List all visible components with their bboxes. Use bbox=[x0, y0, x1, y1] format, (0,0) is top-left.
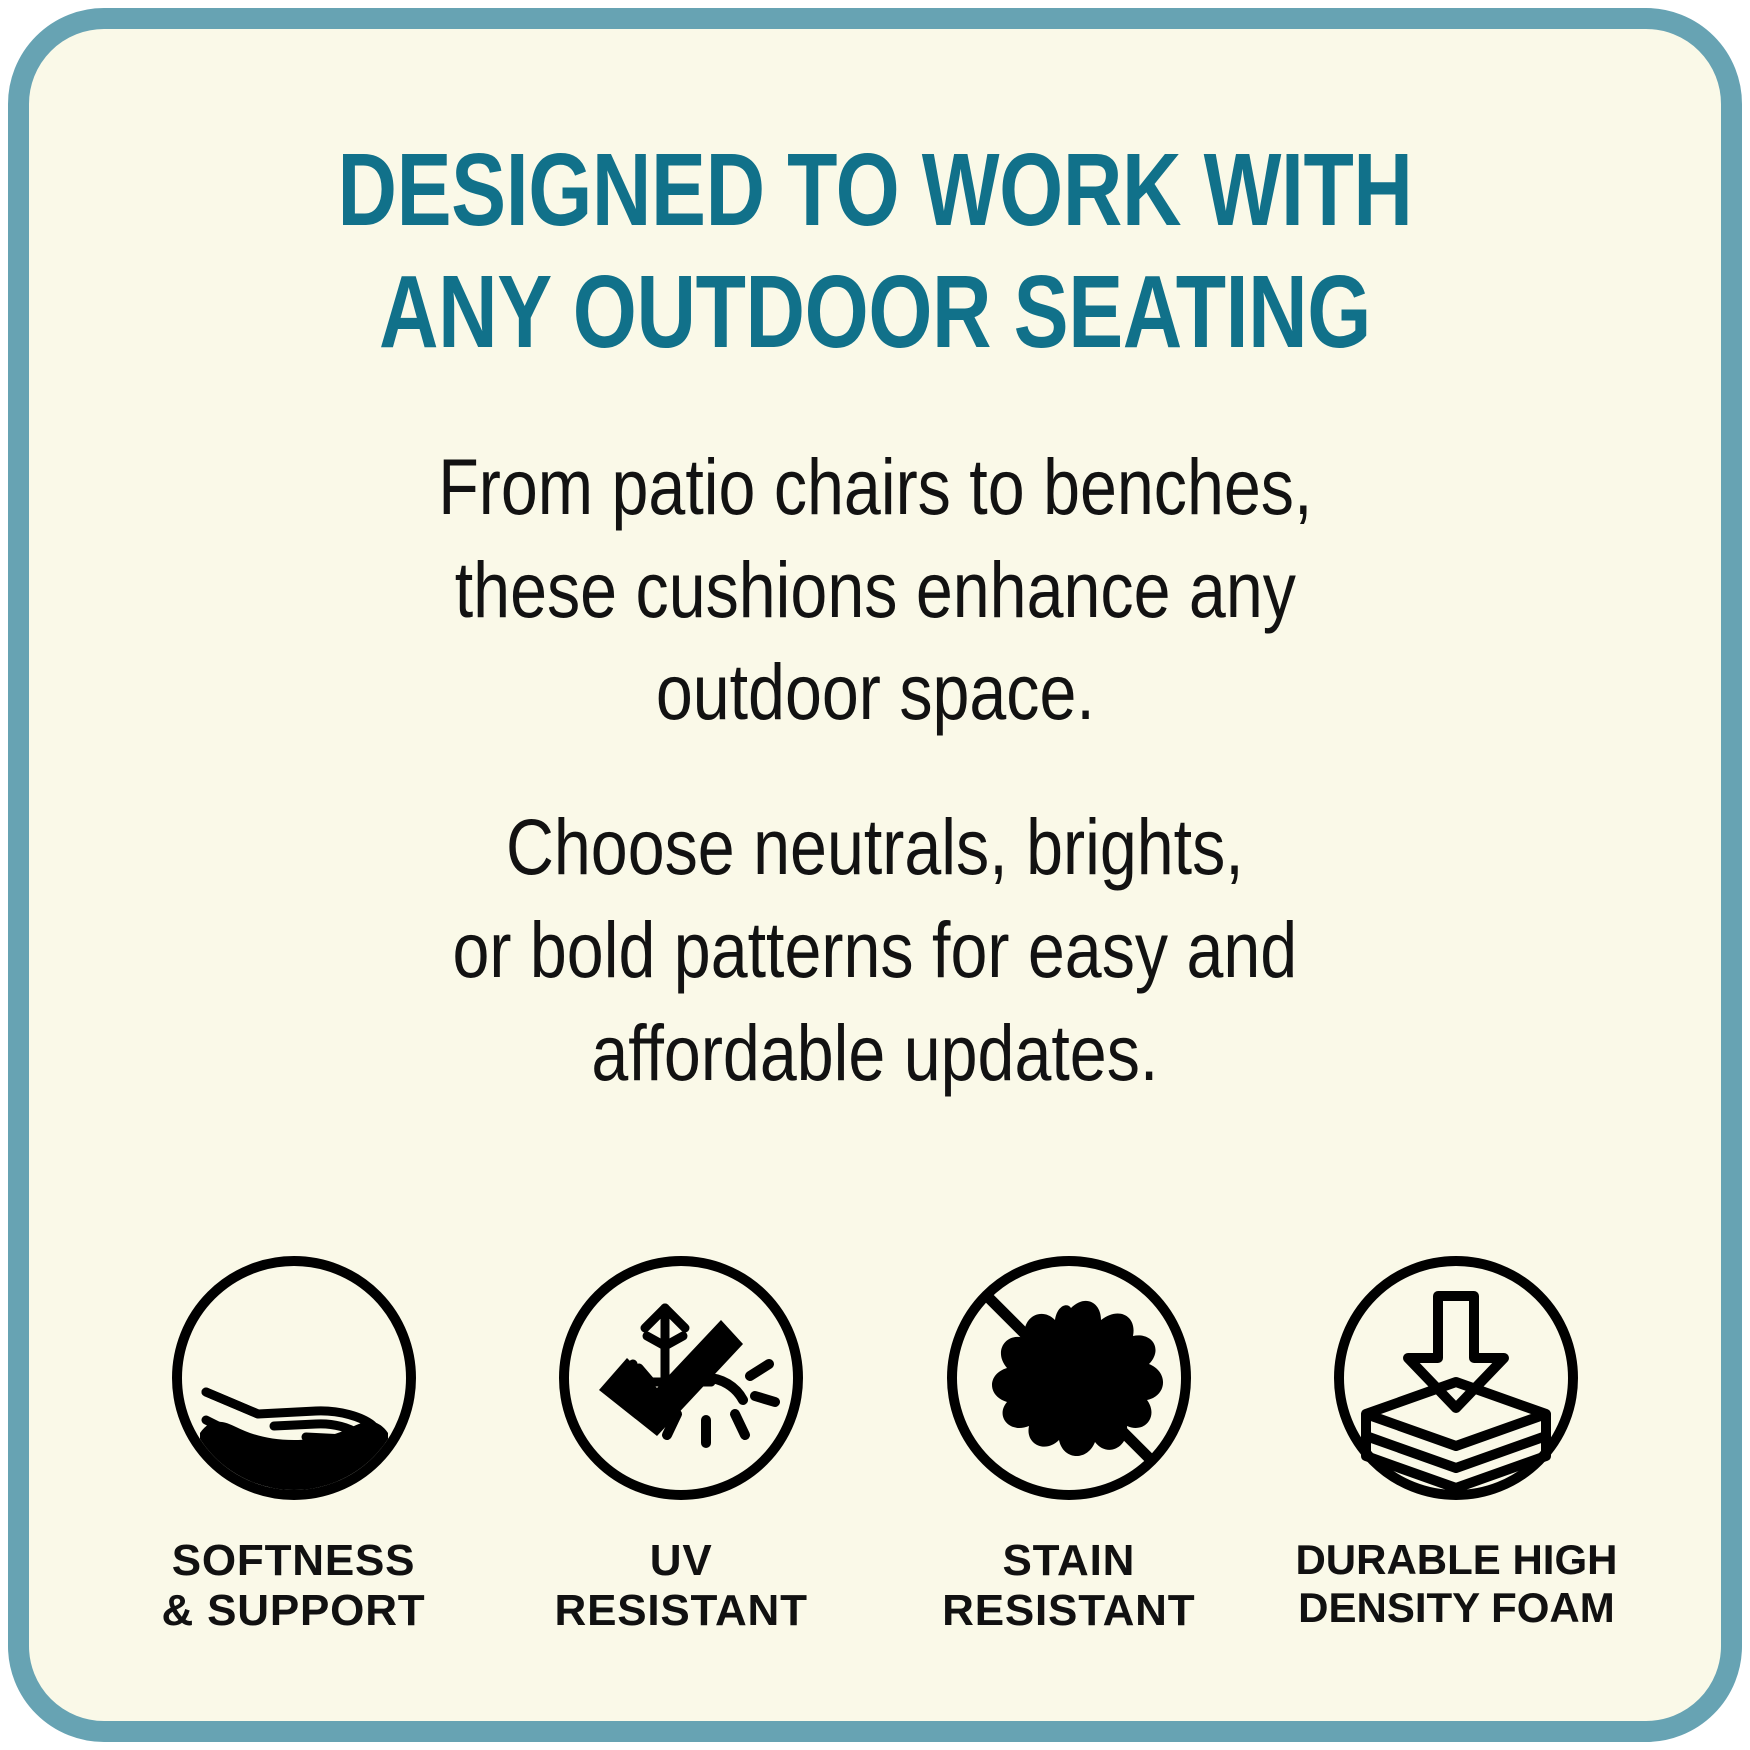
paragraph-1: From patio chairs to benches, these cush… bbox=[438, 436, 1312, 744]
no-stain-splat-icon bbox=[941, 1250, 1197, 1506]
snowflake-sun-fabric-icon bbox=[553, 1250, 809, 1506]
feature-uv-resistant: UV RESISTANT bbox=[509, 1250, 854, 1635]
feature-row: SOFTNESS & SUPPORT bbox=[121, 1250, 1629, 1635]
feature-durable-foam: DURABLE HIGH DENSITY FOAM bbox=[1284, 1250, 1629, 1630]
body-copy: From patio chairs to benches, these cush… bbox=[119, 436, 1631, 1104]
paragraph-2: Choose neutrals, brights, or bold patter… bbox=[453, 796, 1298, 1104]
hand-on-cushion-icon bbox=[166, 1250, 422, 1506]
feature-label: STAIN RESISTANT bbox=[942, 1536, 1195, 1635]
info-card: DESIGNED TO WORK WITH ANY OUTDOOR SEATIN… bbox=[8, 8, 1742, 1742]
feature-label: SOFTNESS & SUPPORT bbox=[162, 1536, 426, 1635]
card-content: DESIGNED TO WORK WITH ANY OUTDOOR SEATIN… bbox=[29, 29, 1721, 1721]
feature-stain-resistant: STAIN RESISTANT bbox=[896, 1250, 1241, 1635]
feature-label: DURABLE HIGH DENSITY FOAM bbox=[1295, 1536, 1617, 1630]
feature-softness-support: SOFTNESS & SUPPORT bbox=[121, 1250, 466, 1635]
arrow-into-foam-layers-icon bbox=[1328, 1250, 1584, 1506]
feature-label: UV RESISTANT bbox=[555, 1536, 808, 1635]
page-title: DESIGNED TO WORK WITH ANY OUTDOOR SEATIN… bbox=[270, 129, 1480, 372]
